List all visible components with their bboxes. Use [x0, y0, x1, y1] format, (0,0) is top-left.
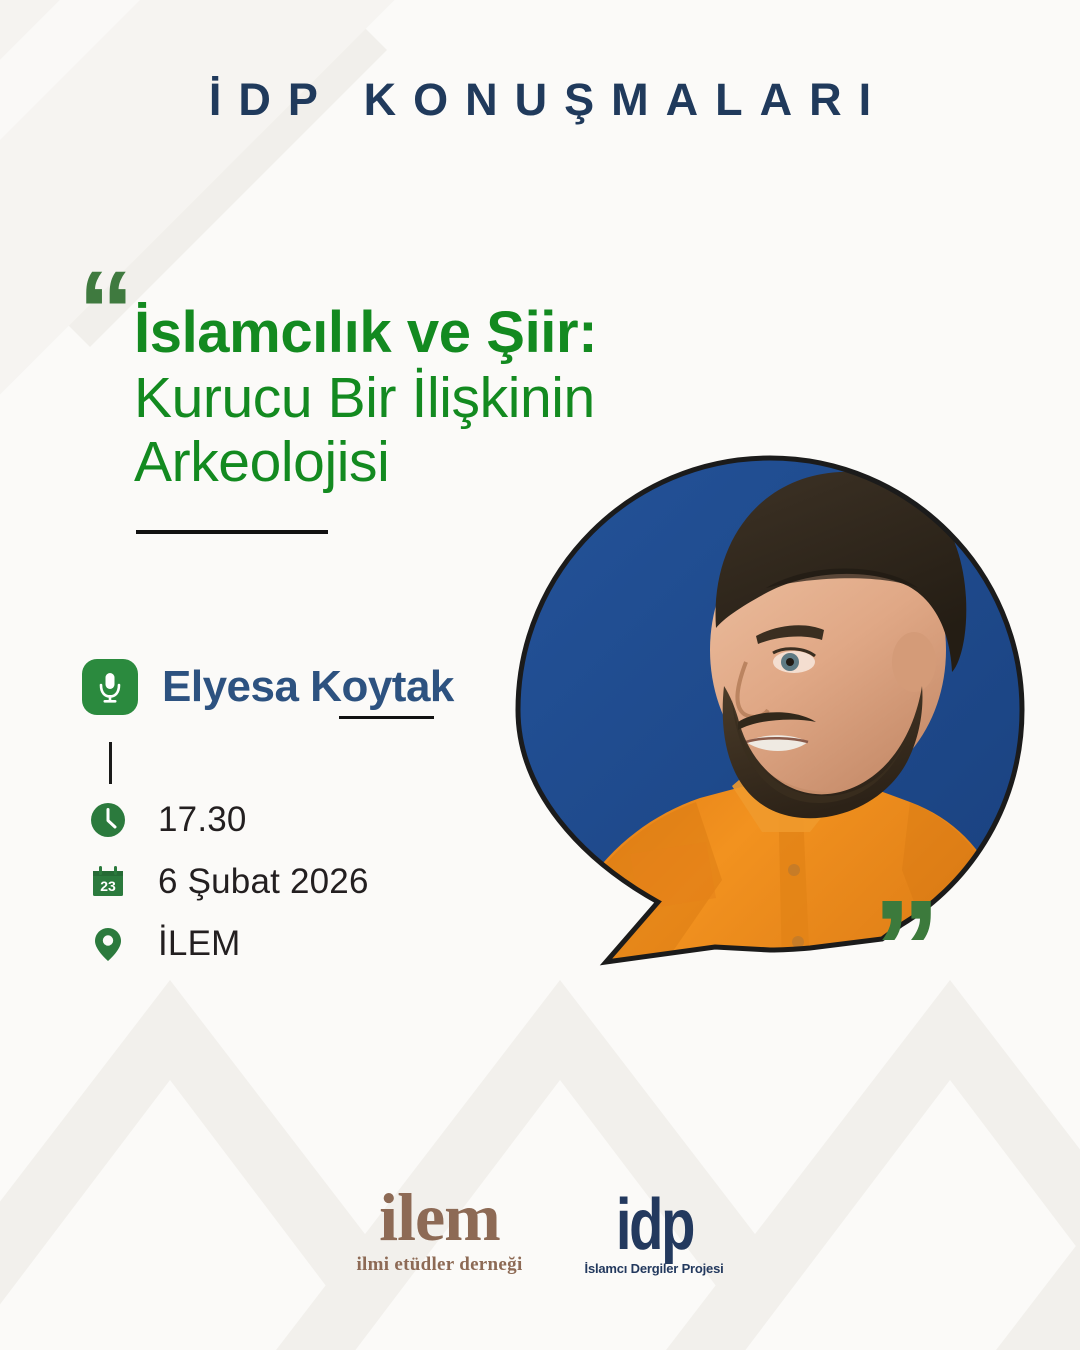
event-details-list: 17.30 23 6 Şubat 2026 İLEM	[85, 797, 369, 967]
clock-icon	[85, 797, 131, 843]
logo-ilem-mark: ilem	[356, 1185, 522, 1250]
speaker-photo-bubble	[510, 450, 1030, 970]
calendar-icon: 23	[85, 859, 131, 905]
microphone-icon	[82, 659, 138, 715]
logo-idp: idp İslamcı Dergiler Projesi	[585, 1192, 724, 1275]
bg-chevron	[0, 980, 500, 1350]
microphone-glyph	[95, 670, 125, 704]
detail-value-date: 6 Şubat 2026	[158, 862, 369, 902]
event-title-line-1: İslamcılık ve Şiir:	[134, 300, 754, 366]
logo-strip: ilem ilmi etüdler derneği idp İslamcı De…	[0, 1185, 1080, 1276]
bg-chevron	[230, 980, 890, 1350]
detail-value-time: 17.30	[158, 800, 247, 840]
event-title-line-2: Kurucu Bir İlişkinin	[134, 366, 754, 430]
speaker-block: Elyesa Koytak	[82, 659, 454, 715]
location-pin-icon	[85, 921, 131, 967]
bg-wedge-top-left	[0, 0, 387, 347]
portrait-photo	[510, 450, 1030, 970]
detail-value-location: İLEM	[158, 924, 241, 964]
detail-row-time: 17.30	[85, 797, 369, 843]
event-title: İslamcılık ve Şiir: Kurucu Bir İlişkinin…	[134, 300, 754, 494]
logo-ilem: ilem ilmi etüdler derneği	[356, 1185, 522, 1276]
title-underline	[136, 530, 328, 534]
bg-chevron	[620, 980, 1080, 1350]
speech-bubble-shape	[510, 450, 1030, 970]
logo-idp-mark: idp	[600, 1192, 708, 1258]
detail-row-date: 23 6 Şubat 2026	[85, 859, 369, 905]
vertical-connector-line	[109, 742, 112, 784]
page-title: İDP KONUŞMALARI	[0, 74, 1080, 126]
bg-stripe	[990, 0, 1080, 335]
speaker-name: Elyesa Koytak	[162, 662, 454, 712]
speaker-name-underline	[339, 716, 434, 719]
bg-stripe	[0, 150, 2, 1253]
detail-row-location: İLEM	[85, 921, 369, 967]
event-poster: İDP KONUŞMALARI “ İslamcılık ve Şiir: Ku…	[0, 0, 1080, 1350]
quote-close-icon: ”	[872, 880, 937, 1018]
logo-ilem-sub: ilmi etüdler derneği	[356, 1254, 522, 1276]
event-title-line-3: Arkeolojisi	[134, 430, 754, 494]
calendar-day-badge: 23	[100, 878, 116, 894]
quote-open-icon: “	[78, 255, 130, 367]
bg-chevron	[950, 980, 1080, 1350]
